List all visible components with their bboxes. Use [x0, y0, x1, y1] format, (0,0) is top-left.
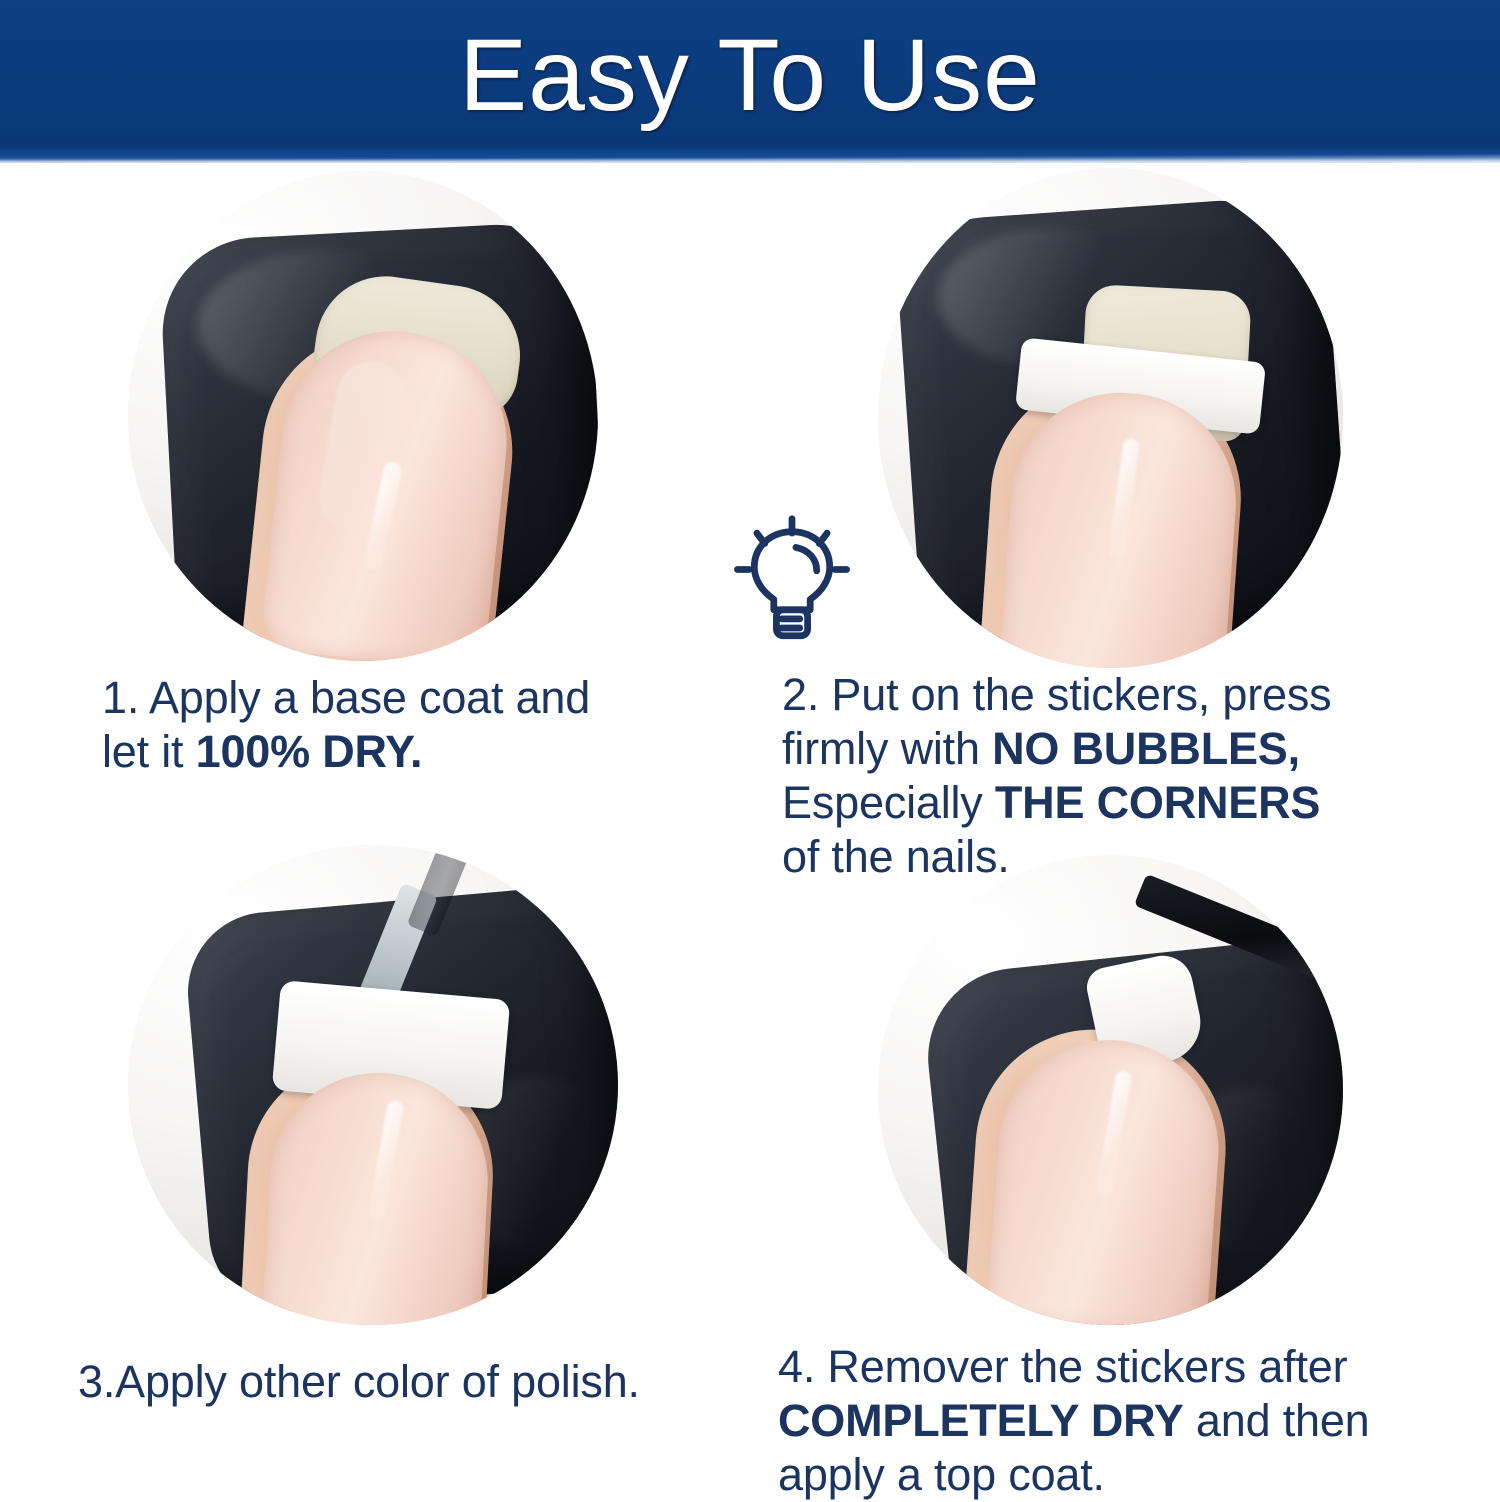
step-1-caption-line1: 1. Apply a base coat and [102, 672, 590, 723]
step-1-caption-line2-plain: let it [102, 726, 196, 777]
step-3-caption: 3.Apply other color of polish. [78, 1355, 758, 1409]
step-2-caption-line1: 2. Put on the stickers, press [782, 669, 1331, 720]
steps-grid: 1. Apply a base coat and let it 100% DRY… [0, 163, 1500, 1500]
step-4-caption-line2-plain: and then [1184, 1395, 1370, 1446]
step-card-4: 4. Remover the stickers after COMPLETELY… [750, 835, 1450, 1495]
step-4-caption-line3: apply a top coat. [778, 1449, 1105, 1500]
header-banner: Easy To Use [0, 0, 1500, 163]
step-2-caption-line2-plain: firmly with [782, 723, 992, 774]
step-2-caption-line2-bold: NO BUBBLES, [992, 723, 1300, 774]
step-2-caption-line3-bold: THE CORNERS [995, 777, 1320, 828]
lightbulb-icon [727, 511, 857, 641]
step-card-1: 1. Apply a base coat and let it 100% DRY… [60, 163, 720, 823]
step-card-2: 2. Put on the stickers, press firmly wit… [750, 163, 1450, 823]
step-4-caption-line2-bold: COMPLETELY DRY [778, 1395, 1184, 1446]
step-1-caption-line2-bold: 100% DRY. [196, 726, 423, 777]
step-4-caption: 4. Remover the stickers after COMPLETELY… [778, 1340, 1468, 1502]
step-card-3: 3.Apply other color of polish. [60, 835, 720, 1495]
step-4-caption-line1: 4. Remover the stickers after [778, 1341, 1347, 1392]
step-3-photo [128, 845, 618, 1325]
step-3-caption-line1: 3.Apply other color of polish. [78, 1356, 640, 1407]
step-2-caption-line3-plain: Especially [782, 777, 995, 828]
step-2-photo [878, 168, 1343, 668]
step-1-caption: 1. Apply a base coat and let it 100% DRY… [102, 671, 722, 779]
step-4-photo [878, 855, 1343, 1325]
page-title: Easy To Use [0, 20, 1500, 130]
step-1-photo [128, 171, 598, 661]
